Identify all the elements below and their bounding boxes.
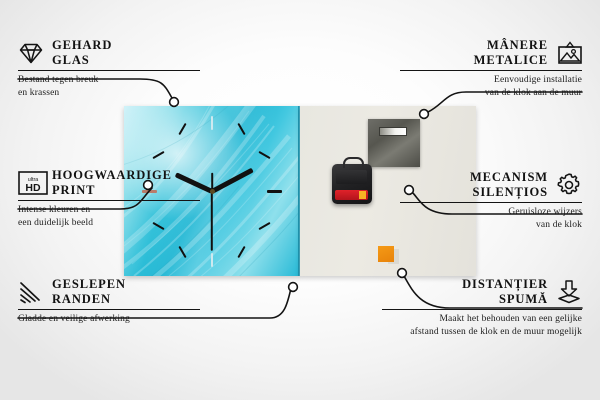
- callout-mecanism-silentios[interactable]: MECANISM SILENȚIOS Geruisloze wijzers va…: [400, 170, 582, 232]
- callout-title: MECANISM SILENȚIOS: [470, 170, 548, 200]
- callout-manere-metalice[interactable]: MÂNERE METALICE Eenvoudige installatie v…: [400, 38, 582, 100]
- spacer-arrow-icon: [556, 279, 582, 305]
- second-hand: [211, 191, 213, 251]
- callout-title: MÂNERE METALICE: [474, 38, 548, 68]
- ultra-hd-icon: ultra HD: [18, 170, 44, 196]
- tick-6: [211, 253, 213, 267]
- callout-description: Bestand tegen breuk en krassen: [18, 71, 200, 100]
- tick-4: [258, 222, 270, 230]
- callout-description: Eenvoudige installatie van de klok aan d…: [400, 71, 582, 100]
- callout-gehard-glas[interactable]: GEHARD GLAS Bestand tegen breuk en krass…: [18, 38, 200, 100]
- callout-title: GEHARD GLAS: [52, 38, 112, 68]
- callout-description: Geruisloze wijzers van de klok: [400, 203, 582, 232]
- callout-description: Maakt het behouden van een gelijke afsta…: [382, 310, 582, 339]
- mechanism-hanger-loop: [343, 157, 364, 168]
- callout-hoogwaardige-print[interactable]: ultra HD HOOGWAARDIGE PRINT Intense kleu…: [18, 168, 200, 230]
- tick-2: [258, 151, 270, 159]
- leader-dot-randen: [289, 283, 298, 292]
- tick-3: [267, 190, 282, 193]
- tick-10: [152, 151, 164, 159]
- callout-description: Gladde en veilige afwerking: [18, 310, 200, 326]
- tick-5: [237, 246, 245, 258]
- battery: [335, 190, 368, 200]
- battery-positive-terminal: [359, 191, 366, 199]
- center-pin: [210, 189, 215, 194]
- callout-description: Intense kleuren en een duidelijk beeld: [18, 201, 200, 230]
- gear-icon: [556, 172, 582, 198]
- metal-hanger-plate: [368, 119, 420, 167]
- tick-11: [178, 123, 186, 135]
- mechanism-housing: [336, 170, 367, 184]
- callout-geslepen-randen[interactable]: GESLEPEN RANDEN Gladde en veilige afwerk…: [18, 277, 200, 326]
- minute-hand: [211, 167, 254, 193]
- callout-title: HOOGWAARDIGE PRINT: [52, 168, 172, 198]
- svg-text:HD: HD: [25, 182, 41, 194]
- callout-title: DISTANȚIER SPUMĂ: [462, 277, 548, 307]
- quartz-mechanism: [332, 164, 372, 204]
- callout-title: GESLEPEN RANDEN: [52, 277, 126, 307]
- picture-frame-hook-icon: [556, 40, 582, 66]
- tick-7: [178, 246, 186, 258]
- hanger-slot: [379, 127, 407, 136]
- tick-1: [237, 123, 245, 135]
- diamond-icon: [18, 40, 44, 66]
- tick-12: [211, 116, 213, 130]
- callout-distantier-spuma[interactable]: DISTANȚIER SPUMĂ Maakt het behouden van …: [382, 277, 582, 339]
- infographic-canvas: GEHARD GLAS Bestand tegen breuk en krass…: [0, 0, 600, 400]
- beveled-edges-icon: [18, 279, 44, 305]
- foam-spacer: [378, 246, 394, 262]
